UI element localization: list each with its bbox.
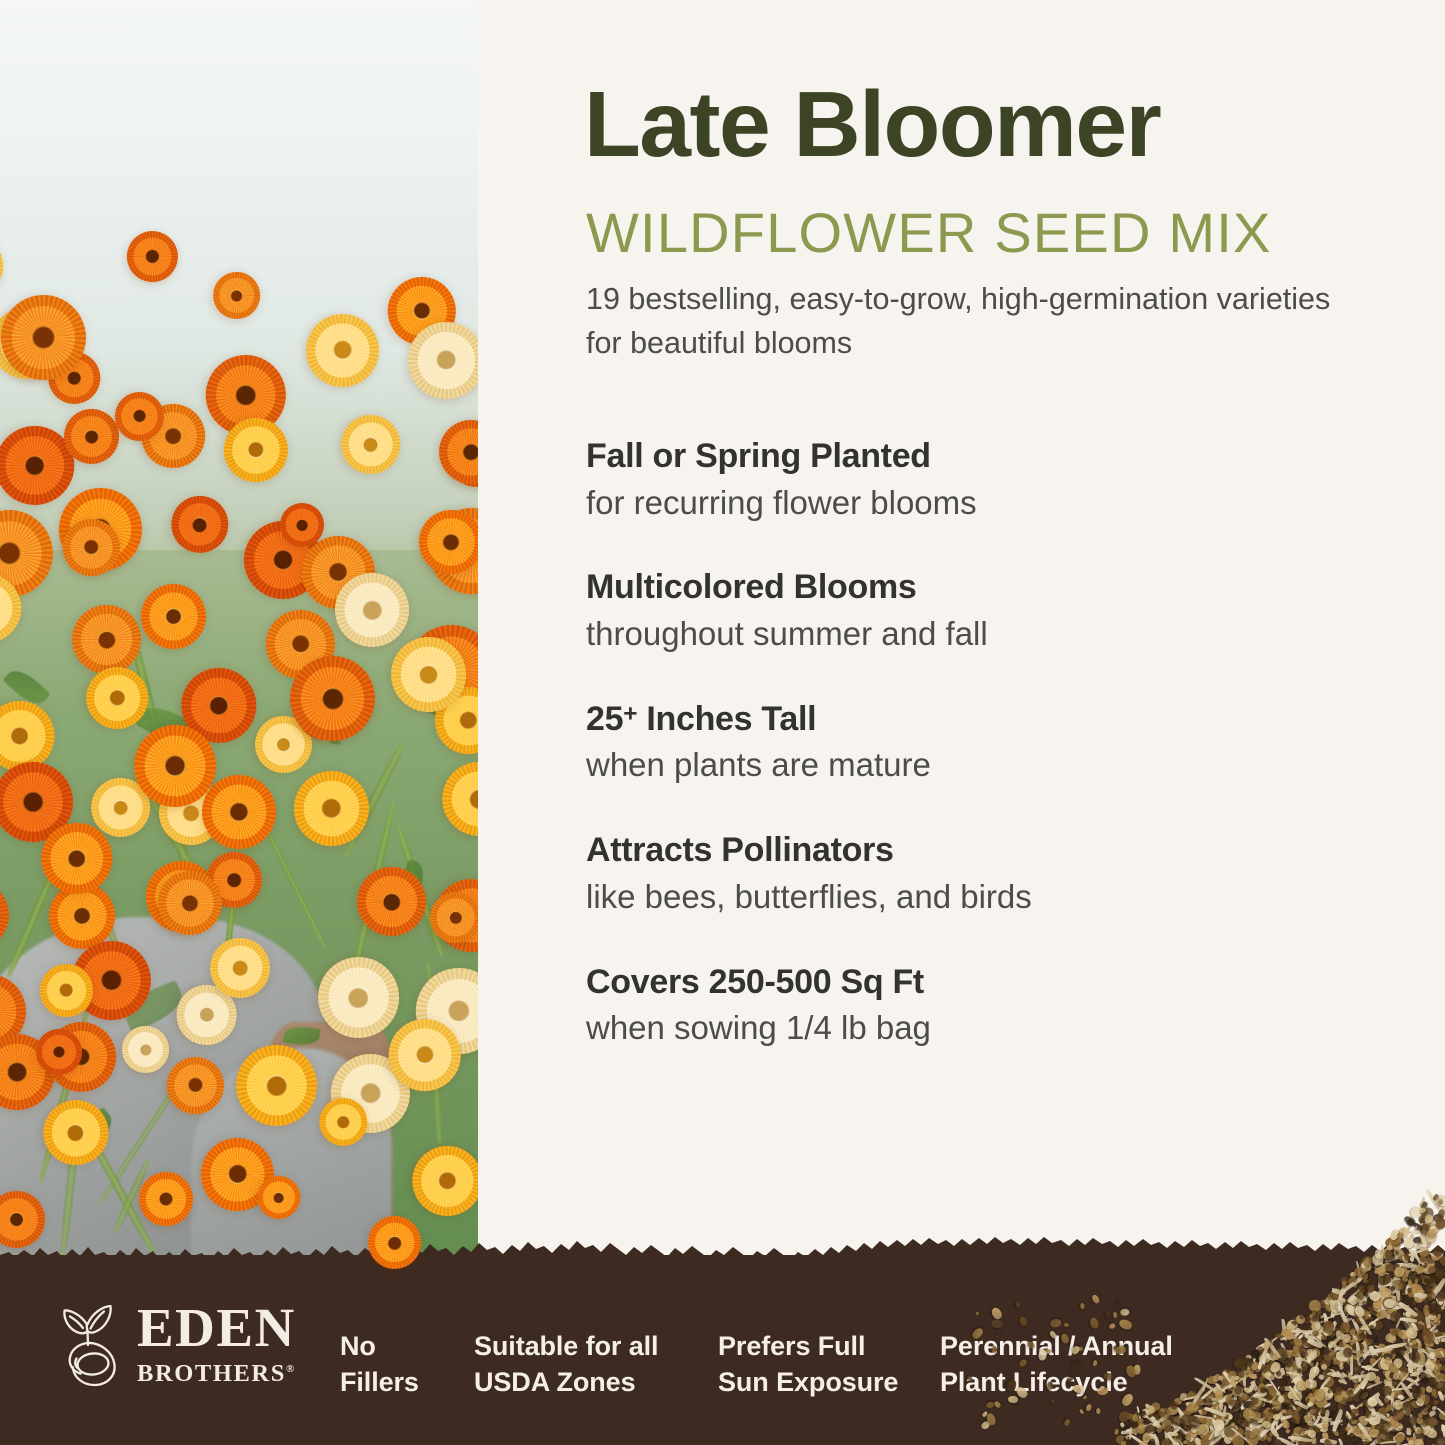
- logo-wordmark: EDEN BROTHERS®: [137, 1300, 296, 1387]
- feature-list: Fall or Spring Planted for recurring flo…: [586, 435, 1386, 1050]
- feature-heading-number: 25: [586, 700, 623, 738]
- feature-heading: Fall or Spring Planted: [586, 435, 1386, 479]
- logo-secondary-text: BROTHERS®: [137, 1362, 296, 1387]
- footer-badge-usda-zones: Suitable for all USDA Zones: [474, 1329, 658, 1400]
- feature-heading-plus: +: [623, 701, 637, 728]
- logo-primary-text: EDEN: [137, 1300, 296, 1355]
- feature-heading-rest: Inches Tall: [637, 700, 816, 738]
- footer-badge-no-fillers: No Fillers: [340, 1329, 419, 1400]
- badge-line-1: No: [340, 1329, 419, 1365]
- feature-item: Covers 250-500 Sq Ft when sowing 1/4 lb …: [586, 961, 1386, 1050]
- feature-heading: Attracts Pollinators: [586, 829, 1386, 873]
- footer-bar: EDEN BROTHERS® No Fillers Suitable for a…: [0, 1277, 1445, 1445]
- feature-heading: 25+ Inches Tall: [586, 698, 1386, 742]
- product-description: 19 bestselling, easy-to-grow, high-germi…: [586, 277, 1346, 365]
- badge-line-2: Plant Lifecycle: [940, 1365, 1173, 1401]
- badge-line-1: Prefers Full: [718, 1329, 898, 1365]
- registered-mark-icon: ®: [286, 1363, 294, 1375]
- badge-line-2: USDA Zones: [474, 1365, 658, 1401]
- sprout-logo-icon: [52, 1299, 126, 1387]
- eden-brothers-logo[interactable]: EDEN BROTHERS®: [52, 1299, 296, 1387]
- feature-item: 25+ Inches Tall when plants are mature: [586, 698, 1386, 787]
- product-subtitle: WILDFLOWER SEED MIX: [586, 205, 1436, 261]
- feature-detail: when plants are mature: [586, 744, 1386, 787]
- logo-secondary-label: BROTHERS: [137, 1360, 286, 1387]
- feature-item: Fall or Spring Planted for recurring flo…: [586, 435, 1386, 524]
- product-infographic: Late Bloomer WILDFLOWER SEED MIX 19 best…: [0, 0, 1445, 1445]
- badge-line-1: Perennial / Annual: [940, 1329, 1173, 1365]
- product-copy-panel: Late Bloomer WILDFLOWER SEED MIX 19 best…: [478, 0, 1445, 1280]
- product-title: Late Bloomer: [584, 78, 1414, 171]
- feature-heading: Covers 250-500 Sq Ft: [586, 961, 1386, 1005]
- feature-detail: like bees, butterflies, and birds: [586, 876, 1386, 919]
- calendula-flower-photo: [0, 0, 478, 1310]
- feature-detail: throughout summer and fall: [586, 613, 1386, 656]
- feature-heading: Multicolored Blooms: [586, 566, 1386, 610]
- feature-detail: when sowing 1/4 lb bag: [586, 1007, 1386, 1050]
- badge-line-2: Sun Exposure: [718, 1365, 898, 1401]
- feature-item: Attracts Pollinators like bees, butterfl…: [586, 829, 1386, 918]
- footer-badge-sun-exposure: Prefers Full Sun Exposure: [718, 1329, 898, 1400]
- badge-line-2: Fillers: [340, 1365, 419, 1401]
- badge-line-1: Suitable for all: [474, 1329, 658, 1365]
- feature-detail: for recurring flower blooms: [586, 482, 1386, 525]
- footer-badge-plant-lifecycle: Perennial / Annual Plant Lifecycle: [940, 1329, 1173, 1400]
- feature-item: Multicolored Blooms throughout summer an…: [586, 566, 1386, 655]
